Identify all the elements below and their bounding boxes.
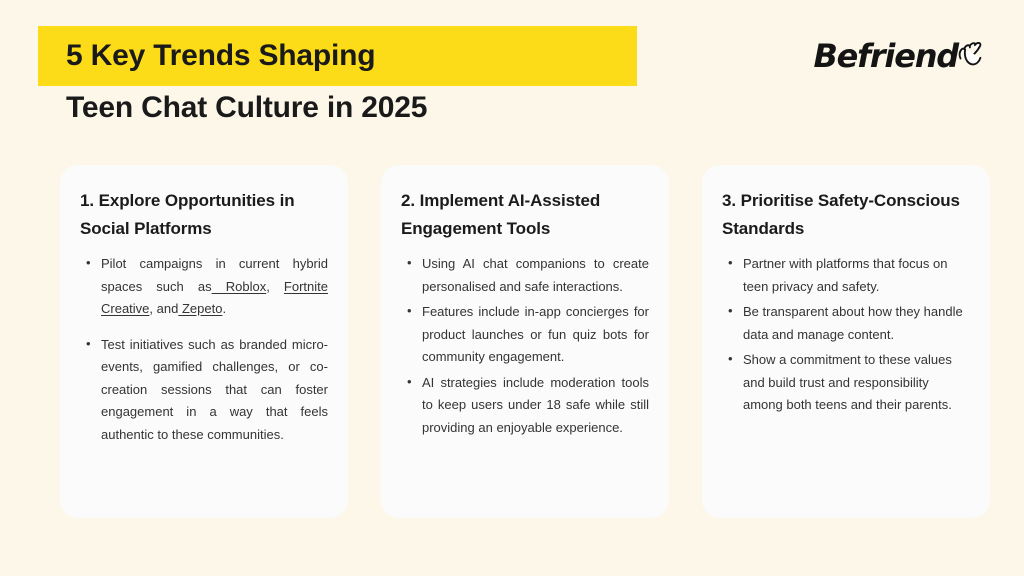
bullet-segment: Using AI chat companions to create perso… (422, 256, 649, 294)
link-roblox[interactable]: Roblox (212, 279, 267, 294)
brand-logo: Befriend (813, 32, 986, 80)
cards-row: 1. Explore Opportunities in Social Platf… (60, 165, 990, 518)
list-item: Test initiatives such as branded micro-e… (80, 334, 328, 447)
trend-card-2: 2. Implement AI-Assisted Engagement Tool… (381, 165, 669, 518)
card-2-title: 2. Implement AI-Assisted Engagement Tool… (401, 187, 649, 243)
trend-card-3: 3. Prioritise Safety-Conscious Standards… (702, 165, 990, 518)
list-item: Features include in-app concierges for p… (401, 301, 649, 369)
list-item: AI strategies include moderation tools t… (401, 372, 649, 440)
page-title-line-1: 5 Key Trends Shaping (38, 26, 637, 86)
card-3-bullet-list: Partner with platforms that focus on tee… (722, 253, 970, 417)
trend-card-1: 1. Explore Opportunities in Social Platf… (60, 165, 348, 518)
title-highlight-row: 5 Key Trends Shaping (38, 26, 798, 86)
card-1-title: 1. Explore Opportunities in Social Platf… (80, 187, 328, 243)
bullet-segment: Test initiatives such as branded micro-e… (101, 337, 328, 442)
bullet-segment: AI strategies include moderation tools t… (422, 375, 649, 435)
list-item: Show a commitment to these values and bu… (722, 349, 970, 417)
card-2-bullet-list: Using AI chat companions to create perso… (401, 253, 649, 439)
bullet-segment: , (266, 279, 284, 294)
bullet-segment: Features include in-app concierges for p… (422, 304, 649, 364)
page-title-line-2: Teen Chat Culture in 2025 (38, 86, 798, 130)
card-3-title: 3. Prioritise Safety-Conscious Standards (722, 187, 970, 243)
bullet-segment: Be transparent about how they handle dat… (743, 304, 963, 342)
slide-header: 5 Key Trends Shaping Teen Chat Culture i… (38, 26, 798, 130)
brand-name: Befriend (813, 40, 958, 72)
bullet-segment: Partner with platforms that focus on tee… (743, 256, 947, 294)
waving-hand-icon (952, 37, 986, 71)
bullet-segment: . (222, 301, 226, 316)
link-zepeto[interactable]: Zepeto (178, 301, 222, 316)
list-item: Partner with platforms that focus on tee… (722, 253, 970, 298)
list-item: Using AI chat companions to create perso… (401, 253, 649, 298)
list-item: Be transparent about how they handle dat… (722, 301, 970, 346)
slide-canvas: 5 Key Trends Shaping Teen Chat Culture i… (0, 0, 1024, 576)
card-1-bullet-list: Pilot campaigns in current hybrid spaces… (80, 253, 328, 446)
list-item: Pilot campaigns in current hybrid spaces… (80, 253, 328, 321)
bullet-segment: Show a commitment to these values and bu… (743, 352, 952, 412)
bullet-segment: , and (149, 301, 178, 316)
